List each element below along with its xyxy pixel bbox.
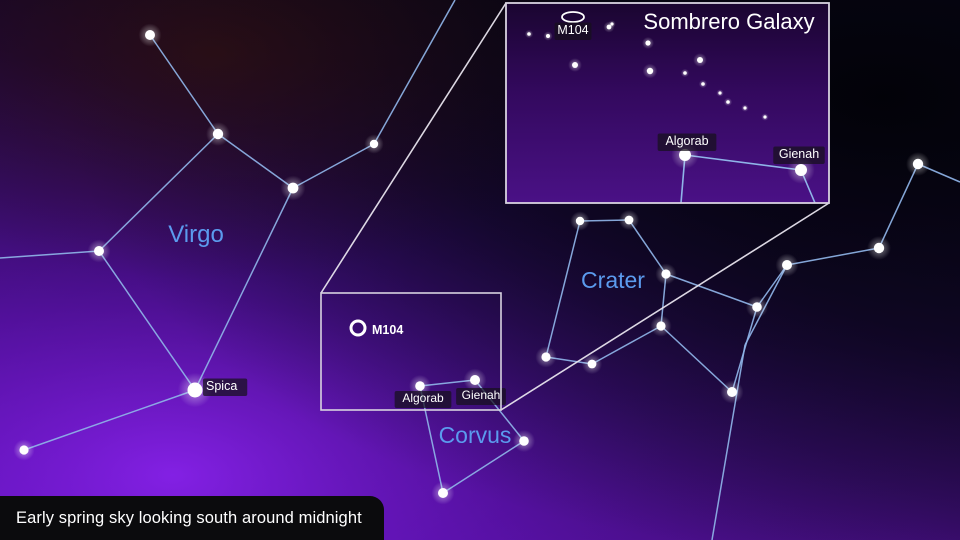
star-label-spica-text: Spica — [206, 379, 237, 393]
star-4 — [94, 246, 104, 256]
star-label-gienah: Gienah — [456, 388, 506, 405]
inset-star-gienah — [795, 164, 807, 176]
inset-star-0 — [527, 32, 531, 36]
star-21 — [438, 488, 448, 498]
inset-star-7 — [645, 40, 650, 45]
star-9 — [661, 269, 670, 278]
inset-star-label-algorab-text: Algorab — [665, 134, 708, 148]
caption-bar: Early spring sky looking south around mi… — [0, 496, 384, 540]
star-8 — [625, 216, 634, 225]
inset-star-label-gienah-text: Gienah — [779, 147, 819, 161]
star-6 — [19, 445, 28, 454]
star-3 — [370, 140, 378, 148]
star-2 — [288, 183, 299, 194]
star-label-algorab-text: Algorab — [402, 391, 444, 405]
inset-star-3 — [610, 22, 613, 25]
star-20 — [519, 436, 529, 446]
star-label-spica: Spica — [203, 379, 247, 397]
inset-star-1 — [546, 34, 550, 38]
constellation-label-crater: Crater — [581, 267, 645, 293]
inset-star-8 — [683, 71, 687, 75]
star-5 — [188, 383, 203, 398]
inset-large-m104-label-text: M104 — [557, 23, 588, 37]
inset-star-5 — [647, 68, 653, 74]
inset-star-label-gienah: Gienah — [773, 147, 825, 165]
star-16 — [874, 243, 884, 253]
inset-large-title: Sombrero Galaxy — [643, 9, 814, 34]
sky-canvas: VirgoCraterCorvus SpicaAlgorabGienah M10… — [0, 0, 960, 540]
star-15 — [782, 260, 792, 270]
star-chart-scene: VirgoCraterCorvus SpicaAlgorabGienah M10… — [0, 0, 960, 540]
inset-large-box[interactable]: AlgorabGienahM104Sombrero Galaxy — [506, 3, 829, 203]
star-label-algorab: Algorab — [395, 391, 452, 408]
inset-star-6 — [697, 57, 703, 63]
inset-star-12 — [743, 106, 746, 109]
constellation-label-virgo: Virgo — [168, 221, 224, 248]
inset-star-label-algorab: Algorab — [658, 134, 717, 152]
star-11 — [588, 360, 597, 369]
star-18 — [415, 381, 425, 391]
star-17 — [913, 159, 923, 169]
star-14 — [727, 387, 737, 397]
star-1 — [213, 129, 223, 139]
caption-text: Early spring sky looking south around mi… — [16, 509, 362, 528]
star-19 — [470, 375, 480, 385]
star-7 — [576, 217, 584, 225]
star-0 — [145, 30, 155, 40]
inset-small-m104-label: M104 — [372, 323, 403, 337]
inset-star-11 — [726, 100, 730, 104]
star-12 — [656, 321, 665, 330]
inset-large-m104-label: M104 — [555, 23, 592, 41]
star-label-gienah-text: Gienah — [462, 388, 501, 402]
inset-star-9 — [701, 82, 705, 86]
inset-star-13 — [763, 115, 766, 118]
inset-star-10 — [718, 91, 721, 94]
inset-star-4 — [572, 62, 578, 68]
constellation-label-corvus: Corvus — [439, 422, 512, 448]
star-13 — [752, 302, 762, 312]
star-10 — [541, 352, 550, 361]
